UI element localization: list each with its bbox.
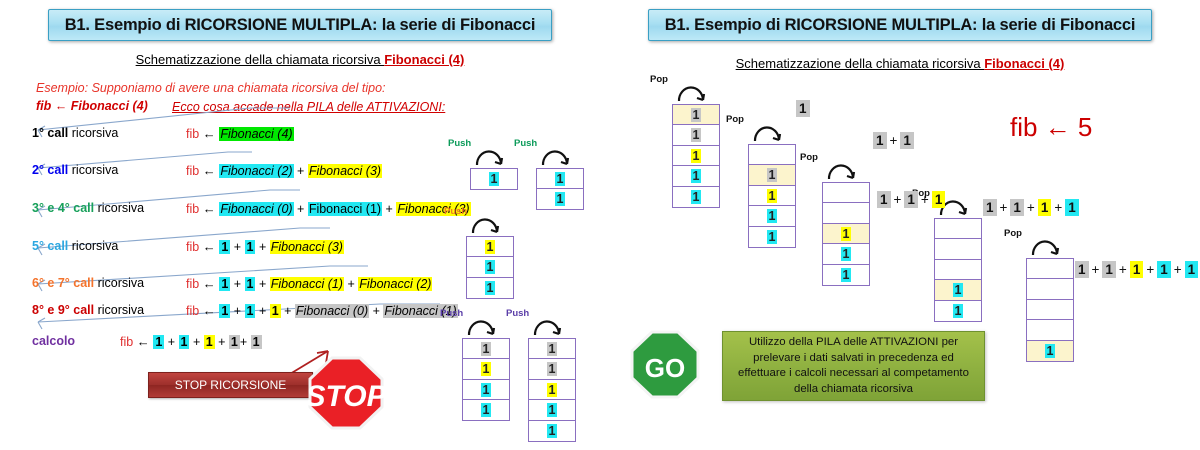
plus-sign: + (1052, 200, 1064, 215)
call-row-label: 2° call ricorsiva (32, 163, 118, 177)
pop-stack: 11 (934, 218, 982, 322)
plus-sign: + (919, 192, 931, 207)
call-row-expression: fib ← Fibonacci (2) + Fibonacci (3) (186, 163, 382, 178)
sum-term: 1 (983, 199, 997, 216)
stack-cell: 1 (462, 379, 510, 401)
push-label: Push (440, 308, 463, 319)
plus-sign: + (1090, 262, 1102, 277)
push-label: Push (506, 308, 529, 319)
stack-cell: 1 (672, 165, 720, 187)
stack-cell: 1 (672, 145, 720, 167)
go-sign-icon: GO (630, 330, 700, 400)
sum-term: 1 (877, 191, 891, 208)
pop-label: Pop (800, 152, 818, 163)
call-row-expression: fib ← 1 + 1 + 1 + 1+ 1 (120, 334, 262, 349)
call-row-expression: fib ← Fibonacci (0) + Fibonacci (1) + Fi… (186, 201, 471, 216)
plus-sign: + (1025, 200, 1037, 215)
stop-sign-icon: STOP (308, 356, 384, 430)
partial-sum: 1 (795, 101, 811, 116)
call-row-label: 6° e 7° call ricorsiva (32, 276, 144, 290)
stack-cell: 1 (748, 164, 796, 186)
push-stack: 11111 (528, 338, 576, 442)
stack-cell-value: 1 (555, 192, 566, 206)
pop-label: Pop (1004, 228, 1022, 239)
stack-cell-value: 1 (481, 383, 492, 397)
stack-cell-value: 1 (481, 342, 492, 356)
slide-title-bar-right: B1. Esempio di RICORSIONE MULTIPLA: la s… (648, 9, 1152, 41)
partial-sum: 1+1+1 (876, 192, 946, 207)
push-stack: 111 (466, 236, 514, 299)
push-stack: 1111 (462, 338, 510, 421)
stack-cell: 1 (822, 243, 870, 265)
partial-sum: 1+1+1+1+1 (1074, 262, 1199, 277)
stack-cell: 1 (528, 420, 576, 442)
plus-sign: + (892, 192, 904, 207)
call-row-expression: fib ← 1 + 1 + Fibonacci (1) + Fibonacci … (186, 276, 432, 291)
pop-label: Pop (650, 74, 668, 85)
pop-arc-icon (1030, 237, 1064, 257)
stack-cell-value: 1 (767, 168, 778, 182)
stack-cell: 1 (528, 379, 576, 401)
pop-stack: 11111 (672, 104, 720, 208)
assign-arrow-icon: ← (203, 201, 220, 216)
stack-cell: 1 (462, 338, 510, 360)
stack-cell (1026, 299, 1074, 321)
stack-cell: 1 (466, 256, 514, 278)
call-row-expression: fib ← 1 + 1 + 1 + Fibonacci (0) + Fibona… (186, 303, 458, 318)
sum-term: 1 (1075, 261, 1089, 278)
slide-title-left: B1. Esempio di RICORSIONE MULTIPLA: la s… (65, 16, 536, 35)
push-label: Push (444, 206, 467, 217)
sum-term: 1 (932, 191, 946, 208)
sum-term: 1 (1010, 199, 1024, 216)
sum-term: 1 (1130, 261, 1144, 278)
stack-cell: 1 (536, 188, 584, 210)
activation-stack-note-text: Utilizzo della PILA delle ATTIVAZIONI pe… (729, 335, 978, 397)
subtitle-left: Schematizzazione della chiamata ricorsiv… (0, 52, 600, 67)
stack-cell: 1 (462, 399, 510, 421)
stack-cell (1026, 319, 1074, 341)
push-arc-icon (532, 317, 566, 337)
subtitle-plain-left: Schematizzazione della chiamata ricorsiv… (136, 52, 385, 67)
activation-stack-note: Utilizzo della PILA delle ATTIVAZIONI pe… (722, 331, 985, 401)
stack-cell-value: 1 (547, 424, 558, 438)
push-label: Push (514, 138, 537, 149)
call-row-label: 8° e 9° call ricorsiva (32, 303, 144, 317)
slide-title-bar-left: B1. Esempio di RICORSIONE MULTIPLA: la s… (48, 9, 552, 41)
call-row: 1° call ricorsivafib ← Fibonacci (4) (0, 126, 600, 148)
plus-sign: + (1172, 262, 1184, 277)
stack-cell: 1 (528, 338, 576, 360)
stack-cell-value: 1 (547, 383, 558, 397)
stack-cell (1026, 278, 1074, 300)
stack-cell-value: 1 (691, 108, 702, 122)
stack-cell (934, 218, 982, 240)
stack-cell (748, 144, 796, 166)
stack-cell: 1 (934, 279, 982, 301)
stack-cell: 1 (462, 358, 510, 380)
stack-cell-value: 1 (485, 281, 496, 295)
pop-stack: 1111 (748, 144, 796, 248)
plus-sign: + (1117, 262, 1129, 277)
stack-cell: 1 (748, 226, 796, 248)
stack-cell: 1 (672, 186, 720, 208)
subtitle-right: Schematizzazione della chiamata ricorsiv… (600, 56, 1200, 71)
stack-cell: 1 (466, 277, 514, 299)
intro-line-1: Esempio: Supponiamo di avere una chiamat… (36, 81, 386, 95)
stack-cell-value: 1 (547, 342, 558, 356)
assign-arrow-icon: ← (203, 303, 220, 318)
stack-cell (822, 182, 870, 204)
stack-cell: 1 (528, 399, 576, 421)
stack-cell: 1 (470, 168, 518, 190)
plus-sign: + (998, 200, 1010, 215)
stack-cell-value: 1 (953, 304, 964, 318)
stack-cell (934, 259, 982, 281)
partial-sum: 1+1+1+1 (982, 200, 1080, 215)
push-arc-icon (470, 215, 504, 235)
call-row-label: 1° call ricorsiva (32, 126, 118, 140)
stack-cell: 1 (672, 104, 720, 126)
stack-cell (1026, 258, 1074, 280)
stack-cell-value: 1 (489, 172, 500, 186)
stack-cell: 1 (672, 124, 720, 146)
call-row-label: calcolo (32, 334, 75, 348)
stack-cell-value: 1 (691, 169, 702, 183)
assign-arrow-icon: ← (203, 239, 220, 254)
sum-term: 1 (1102, 261, 1116, 278)
pop-arc-icon (752, 123, 786, 143)
call-row-expression: fib ← 1 + 1 + Fibonacci (3) (186, 239, 344, 254)
assign-arrow-icon: ← (203, 276, 220, 291)
push-arc-icon (540, 147, 574, 167)
sum-term: 1 (900, 132, 914, 149)
stack-cell: 1 (466, 236, 514, 258)
stack-cell: 1 (934, 300, 982, 322)
stack-cell-value: 1 (841, 247, 852, 261)
call-row-expression: fib ← Fibonacci (4) (186, 126, 294, 141)
sum-term: 1 (1065, 199, 1079, 216)
stack-cell-value: 1 (953, 283, 964, 297)
stack-cell: 1 (822, 264, 870, 286)
pop-stack: 1 (1026, 258, 1074, 362)
stack-cell-value: 1 (485, 240, 496, 254)
push-stack: 11 (536, 168, 584, 210)
assign-arrow-icon: ← (203, 163, 220, 178)
stack-cell-value: 1 (841, 268, 852, 282)
stack-cell: 1 (748, 205, 796, 227)
pop-arc-icon (826, 161, 860, 181)
stack-cell-value: 1 (481, 403, 492, 417)
sum-term: 1 (873, 132, 887, 149)
stack-cell-value: 1 (841, 227, 852, 241)
pop-label: Pop (726, 114, 744, 125)
plus-sign: + (1144, 262, 1156, 277)
assign-arrow-icon: ← (137, 334, 154, 349)
stack-cell-value: 1 (691, 128, 702, 142)
sum-term: 1 (1157, 261, 1171, 278)
plus-sign: + (888, 133, 900, 148)
partial-sum: 1+1 (872, 133, 915, 148)
sum-term: 1 (1185, 261, 1199, 278)
stack-cell-value: 1 (767, 189, 778, 203)
left-slide-panel: B1. Esempio di RICORSIONE MULTIPLA: la s… (0, 0, 600, 450)
stack-cell-value: 1 (691, 190, 702, 204)
call-row-label: 3° e 4° call ricorsiva (32, 201, 144, 215)
sum-term: 1 (1038, 199, 1052, 216)
stack-cell: 1 (1026, 340, 1074, 362)
stack-cell (934, 238, 982, 260)
pop-stack: 111 (822, 182, 870, 286)
subtitle-highlight-left: Fibonacci (4) (384, 52, 464, 67)
stack-cell: 1 (748, 185, 796, 207)
stop-recursion-label: STOP RICORSIONE (175, 378, 287, 392)
final-result: fib ← 5 (1010, 112, 1092, 143)
stack-cell: 1 (822, 223, 870, 245)
stack-cell-value: 1 (485, 260, 496, 274)
stop-sign-label: STOP (308, 380, 384, 413)
stack-cell-value: 1 (767, 209, 778, 223)
go-sign-label: GO (645, 353, 685, 383)
pop-arc-icon (676, 83, 710, 103)
push-label: Push (448, 138, 471, 149)
subtitle-plain-right: Schematizzazione della chiamata ricorsiv… (736, 56, 985, 71)
push-arc-icon (466, 317, 500, 337)
slide-title-right: B1. Esempio di RICORSIONE MULTIPLA: la s… (665, 16, 1136, 35)
stack-cell: 1 (536, 168, 584, 190)
stack-cell-value: 1 (481, 362, 492, 376)
stack-cell-value: 1 (691, 149, 702, 163)
push-arc-icon (474, 147, 508, 167)
call-row: 3° e 4° call ricorsivafib ← Fibonacci (0… (0, 201, 600, 223)
call-row-label: 5° call ricorsiva (32, 239, 118, 253)
stack-cell-value: 1 (767, 230, 778, 244)
assign-arrow-icon: ← (203, 126, 220, 141)
stop-recursion-button[interactable]: STOP RICORSIONE (148, 372, 313, 398)
stack-cell-value: 1 (555, 172, 566, 186)
stack-cell-value: 1 (547, 403, 558, 417)
sum-term: 1 (796, 100, 810, 117)
stack-cell-value: 1 (547, 362, 558, 376)
stack-cell (822, 202, 870, 224)
push-stack: 1 (470, 168, 518, 190)
stack-cell: 1 (528, 358, 576, 380)
stack-cell-value: 1 (1045, 344, 1056, 358)
subtitle-highlight-right: Fibonacci (4) (984, 56, 1064, 71)
sum-term: 1 (904, 191, 918, 208)
